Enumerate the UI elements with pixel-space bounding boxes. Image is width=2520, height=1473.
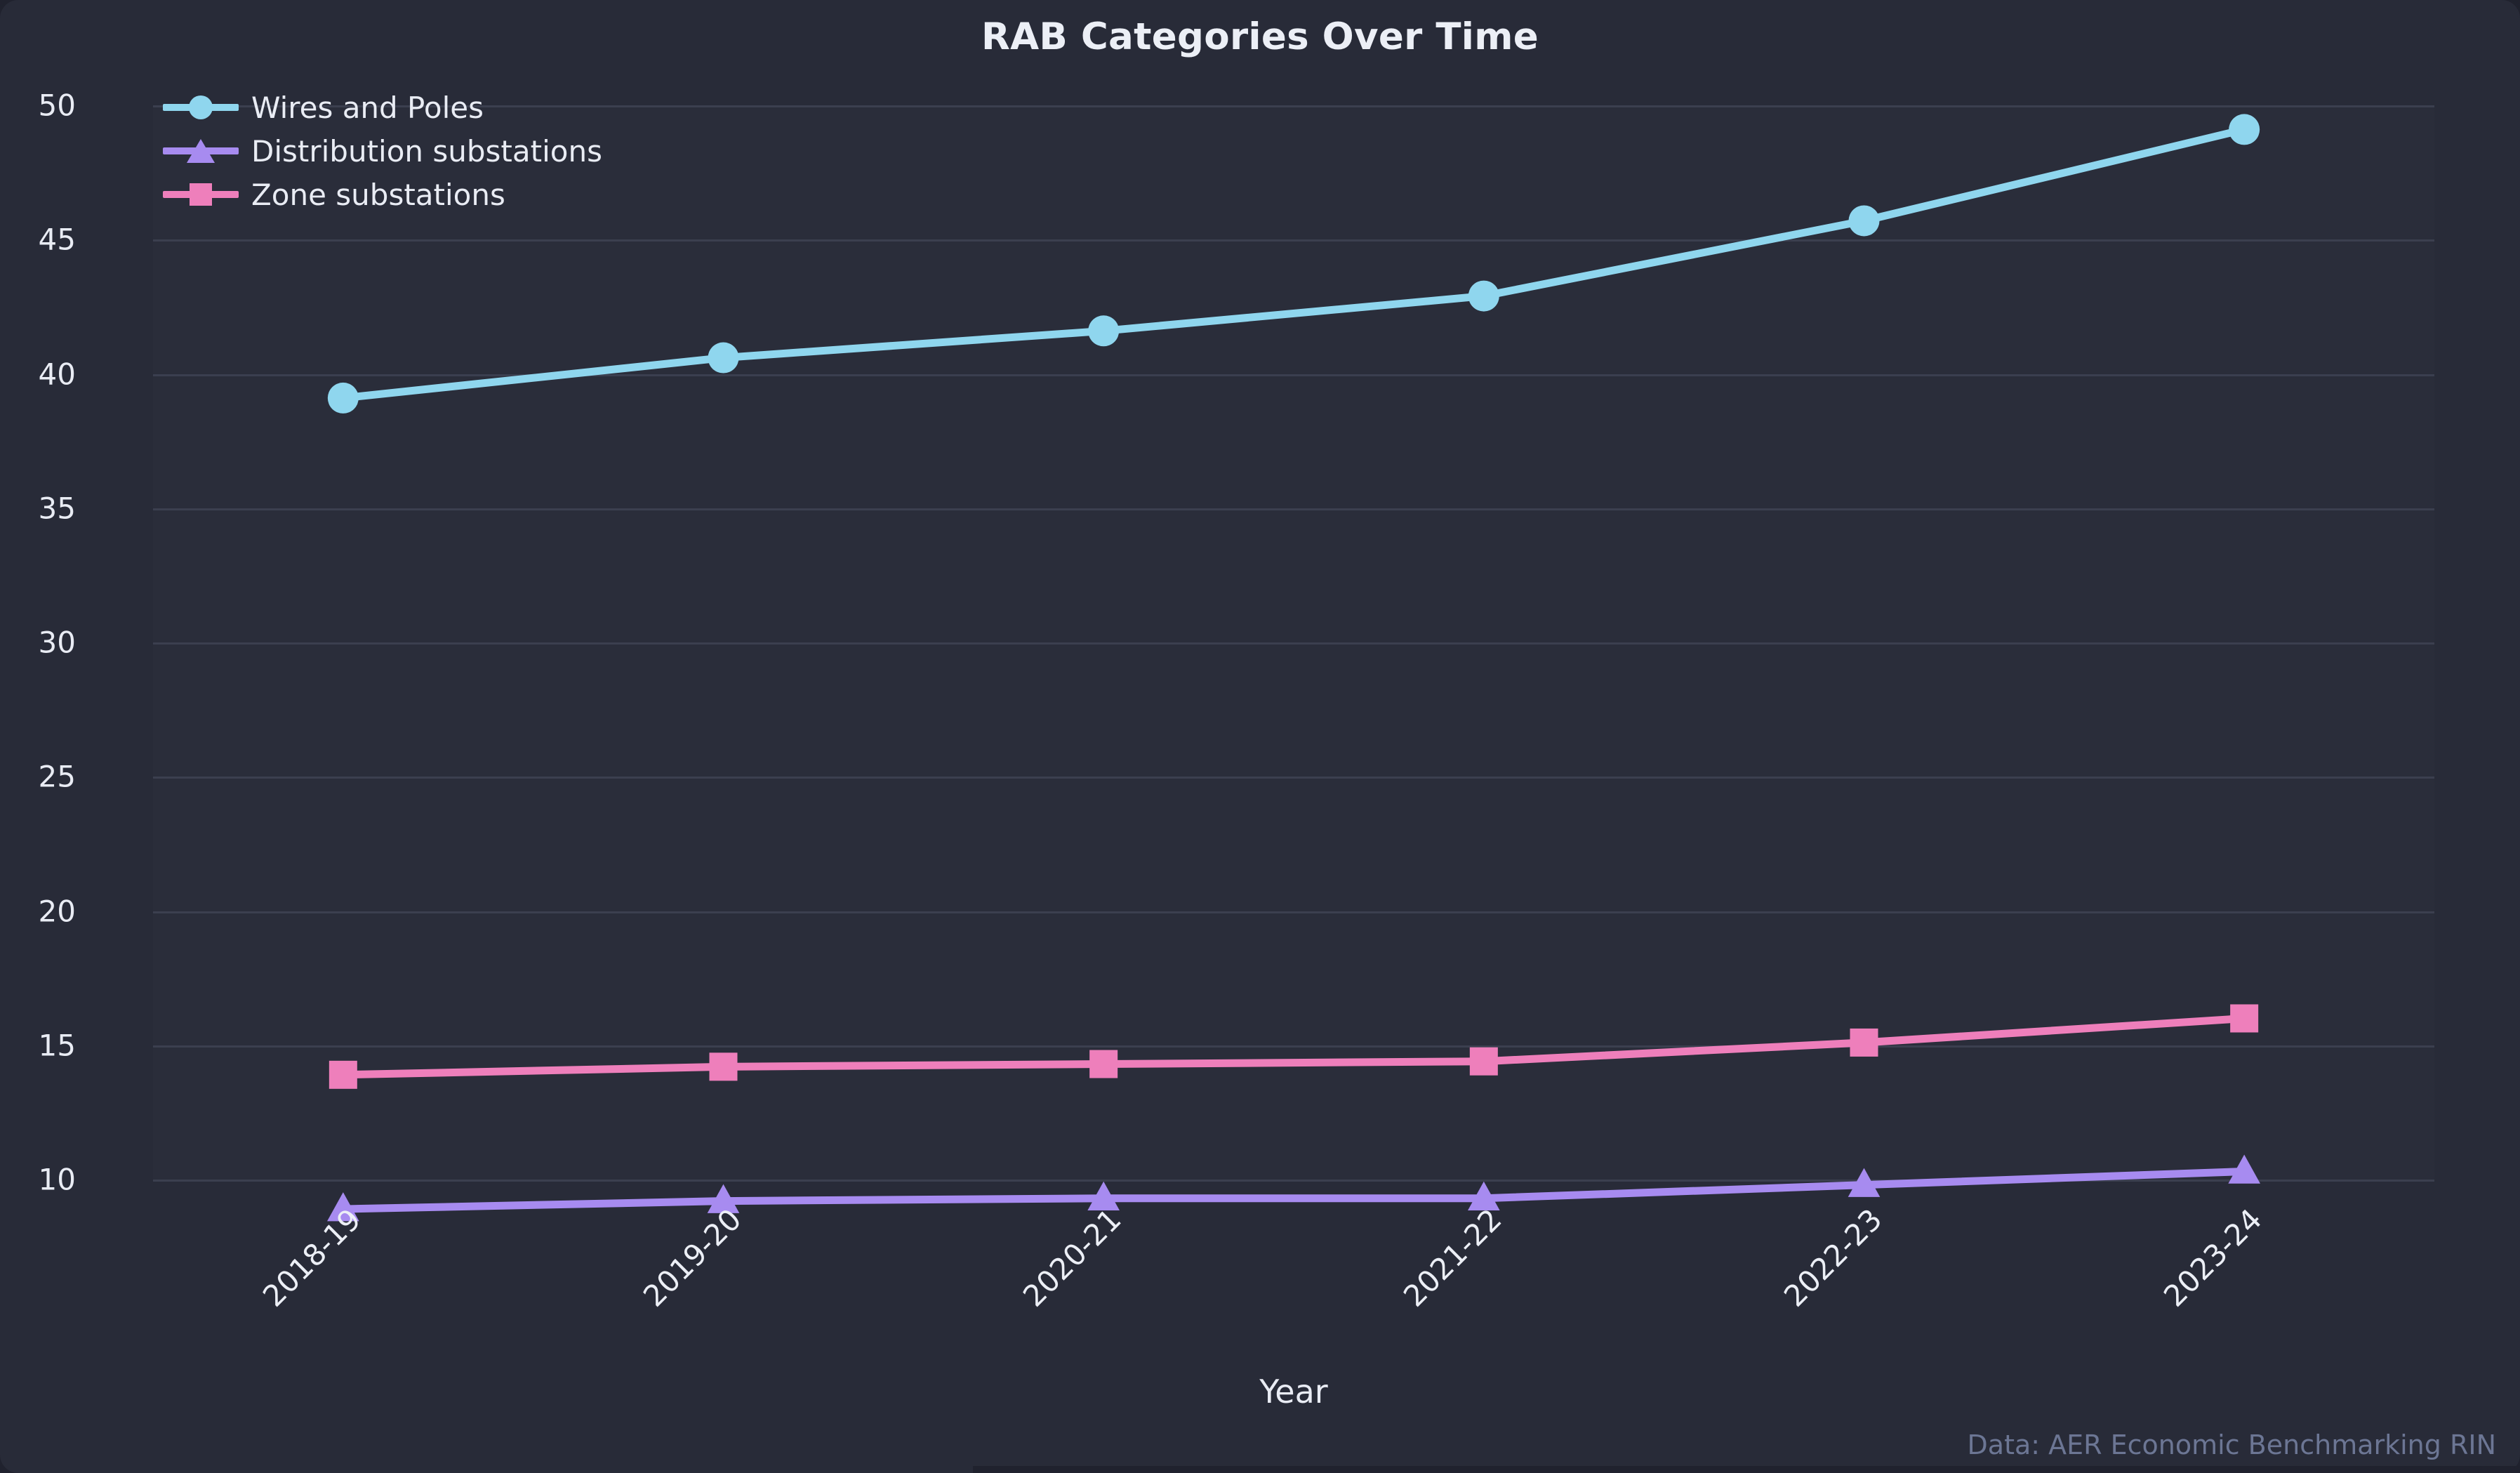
y-tick-label: 30 [0,626,76,660]
y-tick-label: 10 [0,1163,76,1197]
y-tick-label: 50 [0,88,76,123]
data-point-marker [1468,281,1499,312]
legend-swatch [163,178,239,211]
x-axis-label: Year [153,1373,2434,1411]
x-tick-label: 2022-23 [1700,1202,1888,1390]
figure-canvas: RAB Categories Over Time 101520253035404… [0,0,2520,1473]
figure-window: RAB Categories Over Time 101520253035404… [0,0,2520,1473]
data-point-marker [1470,1048,1498,1076]
circle-marker-icon [189,95,213,119]
data-point-marker [2230,1005,2258,1033]
data-point-marker [329,1061,357,1089]
y-tick-label: 40 [0,357,76,391]
x-tick-label: 2020-21 [940,1202,1128,1390]
legend-item-3[interactable]: Zone substations [163,178,602,211]
legend-item-1[interactable]: Wires and Poles [163,91,602,124]
data-point-marker [1088,315,1119,346]
series-line [343,129,2244,398]
data-point-marker [1849,205,1880,236]
series-layer [153,105,2434,1180]
page-title: RAB Categories Over Time [0,15,2520,58]
legend-item-2[interactable]: Distribution substations [163,135,602,167]
y-tick-label: 35 [0,491,76,525]
legend: Wires and PolesDistribution substationsZ… [163,91,602,211]
x-tick-label: 2018-19 [179,1202,367,1390]
data-point-marker [710,1052,738,1081]
legend-swatch [163,91,239,124]
plot-area [153,105,2434,1180]
x-tick-label: 2019-20 [559,1202,748,1390]
data-point-marker [2229,114,2260,145]
square-marker-icon [190,183,212,206]
legend-swatch [163,135,239,167]
data-point-marker [328,383,359,414]
y-tick-label: 20 [0,894,76,928]
x-tick-label: 2021-22 [1320,1202,1508,1390]
data-point-marker [1089,1050,1118,1078]
y-tick-label: 25 [0,760,76,794]
source-annotation: Data: AER Economic Benchmarking RIN [1968,1429,2496,1460]
data-point-marker [708,343,739,374]
x-tick-label: 2023-24 [2081,1202,2269,1390]
legend-label: Distribution substations [251,134,602,169]
window-bottom-edge [973,1466,2520,1473]
data-point-marker [1850,1029,1878,1057]
triangle-marker-icon [187,139,215,163]
series-line [343,1172,2244,1210]
series-line [343,1019,2244,1075]
y-tick-label: 15 [0,1028,76,1062]
legend-label: Wires and Poles [251,91,484,125]
y-tick-label: 45 [0,223,76,257]
legend-label: Zone substations [251,178,505,212]
